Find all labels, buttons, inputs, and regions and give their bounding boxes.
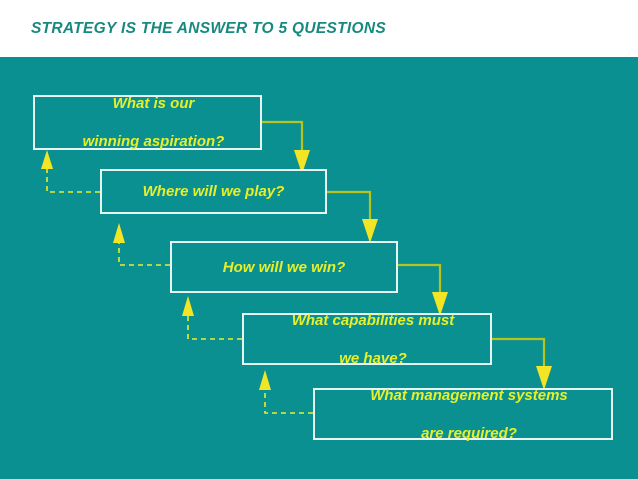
question-line-1: What management systems bbox=[321, 386, 617, 405]
cascade-down-arrow-2 bbox=[327, 192, 378, 243]
question-line-2: we have? bbox=[250, 349, 496, 368]
question-box-where-to-play[interactable]: Where will we play? bbox=[100, 169, 327, 214]
question-line-2: winning aspiration? bbox=[41, 132, 266, 151]
question-box-management-systems[interactable]: What management systemsare required? bbox=[313, 388, 613, 440]
question-box-winning-aspiration[interactable]: What is ourwinning aspiration? bbox=[33, 95, 262, 150]
question-box-text: Where will we play? bbox=[102, 182, 325, 201]
feedback-up-arrow-3 bbox=[182, 296, 242, 339]
feedback-up-arrow-2 bbox=[113, 223, 170, 265]
question-box-capabilities[interactable]: What capabilities mustwe have? bbox=[242, 313, 492, 365]
diagram-area: What is ourwinning aspiration? Where wil… bbox=[0, 57, 638, 479]
page-title: STRATEGY IS THE ANSWER TO 5 QUESTIONS bbox=[31, 20, 386, 38]
cascade-down-arrow-4 bbox=[492, 339, 552, 390]
question-line-1: What is our bbox=[41, 94, 266, 113]
slide-canvas: STRATEGY IS THE ANSWER TO 5 QUESTIONS bbox=[0, 0, 638, 479]
question-box-text: What is ourwinning aspiration? bbox=[35, 94, 260, 151]
question-line-2: are required? bbox=[321, 424, 617, 443]
cascade-down-arrow-3 bbox=[398, 265, 448, 316]
question-box-text: What capabilities mustwe have? bbox=[244, 311, 490, 368]
question-box-text: What management systemsare required? bbox=[315, 386, 611, 443]
question-box-how-to-win[interactable]: How will we win? bbox=[170, 241, 398, 293]
cascade-down-arrow-1 bbox=[262, 122, 310, 174]
question-box-text: How will we win? bbox=[172, 258, 396, 277]
feedback-up-arrow-1 bbox=[41, 150, 100, 192]
feedback-up-arrow-4 bbox=[259, 370, 313, 413]
question-line-1: What capabilities must bbox=[250, 311, 496, 330]
